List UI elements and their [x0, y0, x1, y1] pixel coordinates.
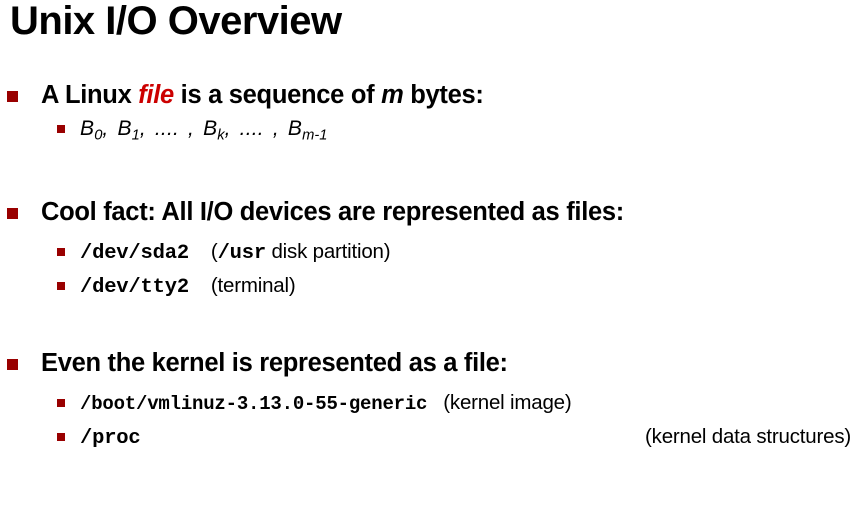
bullet-level1-kernel-file: Even the kernel is represented as a file…: [0, 346, 855, 380]
comma-glyph: ,: [140, 117, 146, 140]
term-base: B: [80, 117, 94, 140]
term-subscript: k: [217, 127, 224, 143]
file-path-usr: /usr: [218, 242, 266, 265]
bullet-group-file-definition: A Linux file is a sequence of m bytes: B…: [0, 78, 855, 151]
square-bullet-icon: [57, 282, 65, 290]
bullet-text-part-before: A Linux: [41, 81, 138, 109]
paren-close: ): [384, 240, 391, 263]
bullet-level2-dev-tty2: /dev/tty2(terminal): [0, 270, 855, 303]
bullet-text: Cool fact: All I/O devices are represent…: [41, 198, 624, 226]
note-text-disk-partition: disk partition: [266, 240, 384, 263]
square-bullet-icon: [7, 91, 18, 102]
term-subscript: 1: [132, 127, 140, 143]
file-path-boot-vmlinuz: /boot/vmlinuz-3.13.0-55-generic: [80, 393, 427, 415]
ellipsis-glyph: ....: [240, 117, 264, 140]
bullet-group-kernel-files: Even the kernel is represented as a file…: [0, 346, 855, 454]
term-base: B: [203, 117, 217, 140]
file-path-proc: /proc: [80, 427, 141, 450]
paren-open: (: [211, 240, 218, 263]
comma-glyph: ,: [225, 117, 231, 140]
comma-glyph: ,: [273, 117, 279, 140]
bullet-level2-dev-sda2: /dev/sda2(/usr disk partition): [0, 236, 855, 269]
slide-canvas: Unix I/O Overview A Linux file is a sequ…: [0, 0, 855, 505]
ellipsis-glyph: ....: [155, 117, 179, 140]
note-text-terminal: (terminal): [211, 274, 296, 297]
square-bullet-icon: [57, 248, 65, 256]
term-subscript: m-1: [302, 127, 327, 143]
comma-glyph: ,: [188, 117, 194, 140]
term-base: B: [117, 117, 131, 140]
square-bullet-icon: [57, 399, 65, 407]
variable-m: m: [381, 81, 403, 109]
bullet-level2-byte-sequence: B0,B1,....,Bk,....,Bm-1: [0, 113, 855, 151]
emphasis-file-keyword: file: [138, 81, 174, 109]
bullet-text: Even the kernel is represented as a file…: [41, 349, 508, 377]
square-bullet-icon: [57, 433, 65, 441]
bullet-text-part-end: bytes:: [403, 81, 483, 109]
file-path-dev-tty2: /dev/tty2: [80, 276, 189, 299]
bullet-text-part-after: is a sequence of: [174, 81, 381, 109]
note-text-kernel-data-structures: (kernel data structures): [645, 421, 851, 452]
comma-glyph: ,: [102, 117, 108, 140]
bullet-level1-file-definition: A Linux file is a sequence of m bytes:: [0, 78, 855, 112]
byte-sequence-expression: B0,B1,....,Bk,....,Bm-1: [80, 117, 327, 140]
note-text-kernel-image: (kernel image): [443, 391, 571, 414]
slide-body: A Linux file is a sequence of m bytes: B…: [0, 78, 855, 454]
bullet-level1-io-devices: Cool fact: All I/O devices are represent…: [0, 195, 855, 229]
square-bullet-icon: [57, 125, 65, 133]
square-bullet-icon: [7, 359, 18, 370]
bullet-level2-boot-vmlinuz: /boot/vmlinuz-3.13.0-55-generic(kernel i…: [0, 387, 855, 420]
page-title: Unix I/O Overview: [10, 0, 342, 44]
file-path-dev-sda2: /dev/sda2: [80, 242, 189, 265]
bullet-level2-proc: /proc (kernel data structures): [0, 421, 855, 454]
term-base: B: [288, 117, 302, 140]
square-bullet-icon: [7, 208, 18, 219]
bullet-group-io-devices: Cool fact: All I/O devices are represent…: [0, 195, 855, 303]
